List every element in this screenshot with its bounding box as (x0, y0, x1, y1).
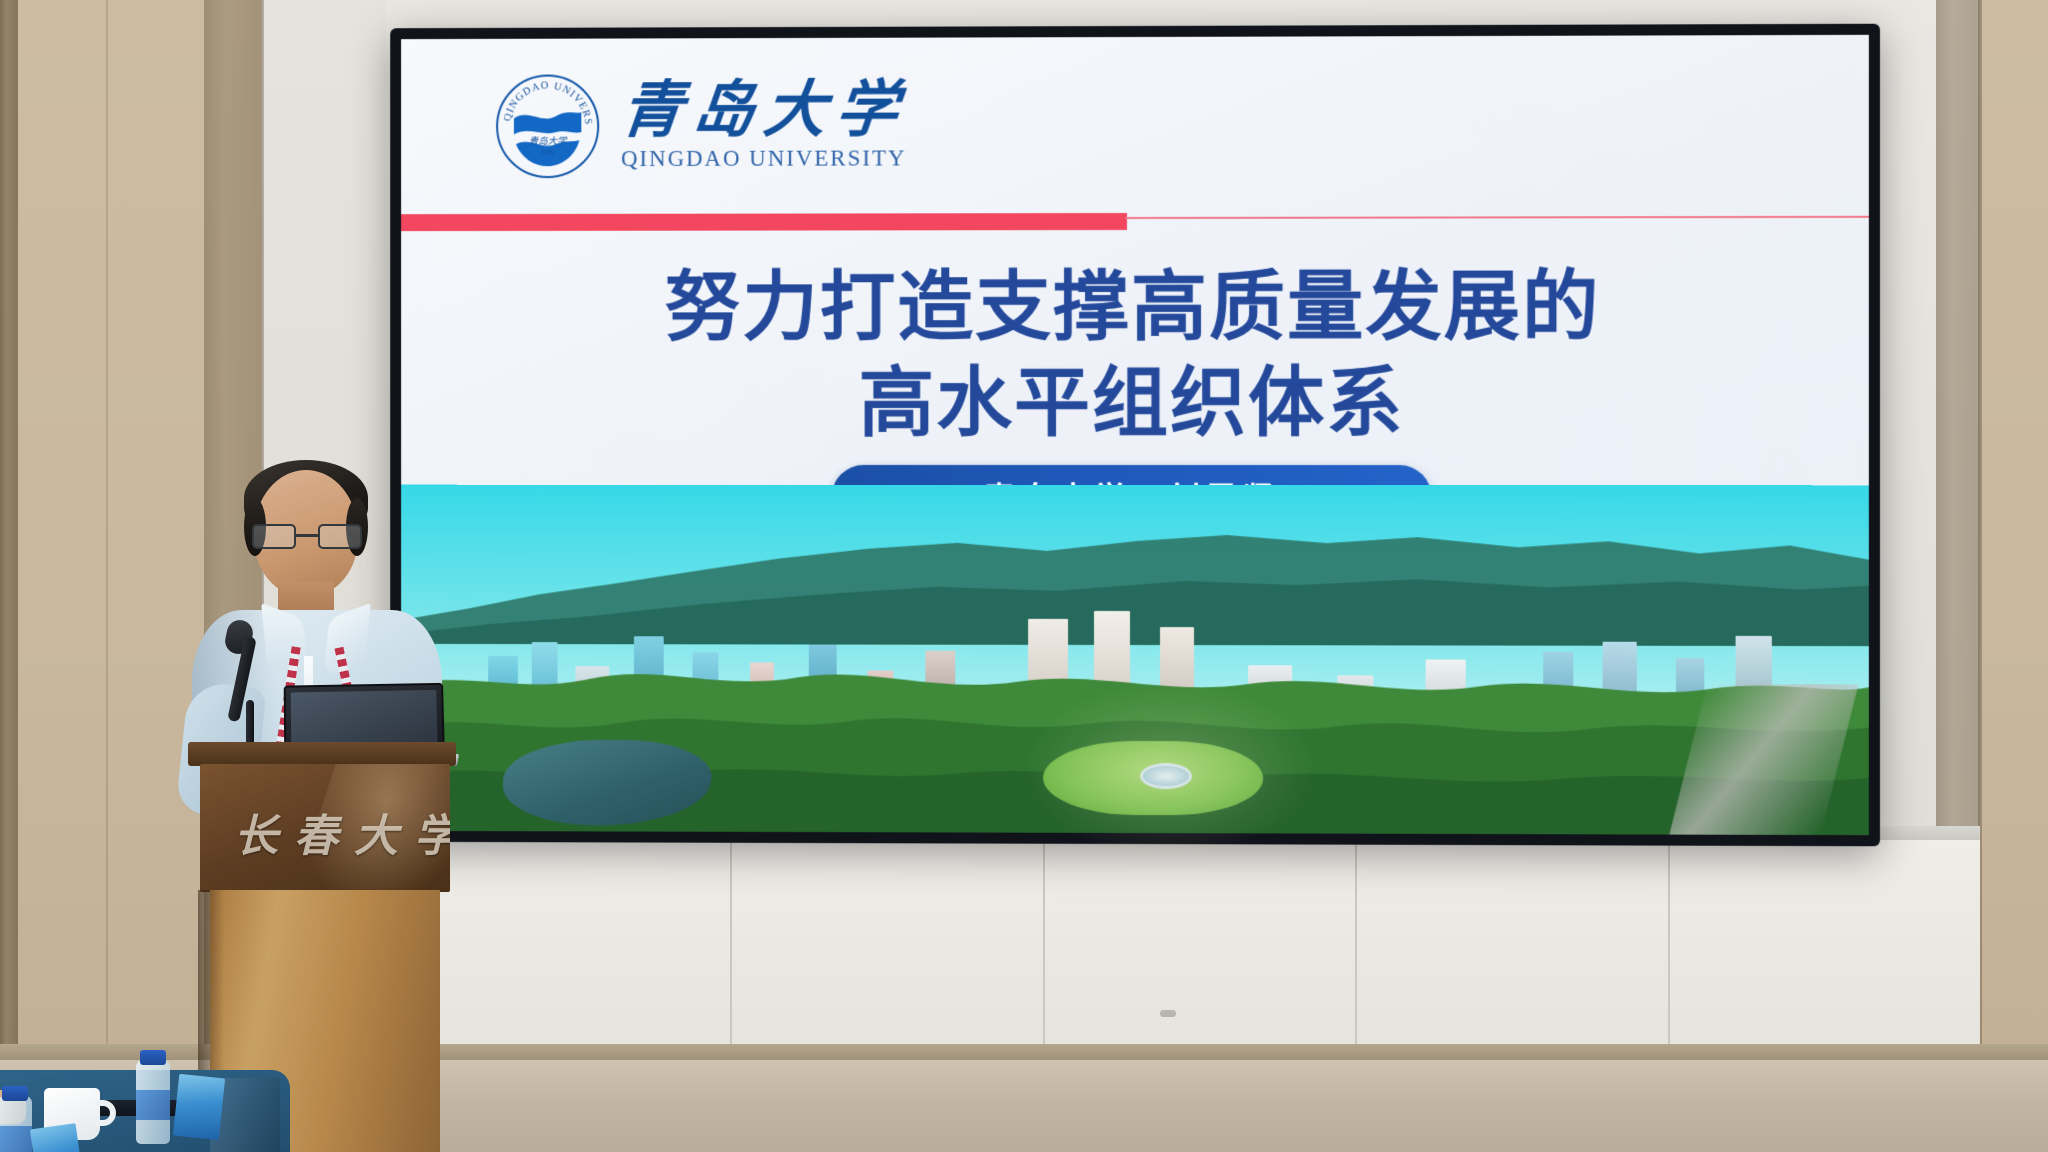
bottle-label (0, 1126, 32, 1152)
cabinet-row (420, 840, 1980, 1055)
accent-red-hairline (1125, 216, 1869, 219)
glasses-bridge (296, 534, 318, 537)
glasses-lens-left (252, 524, 296, 549)
title-line-1: 努力打造支撑高质量发展的 (401, 258, 1869, 355)
wall-column-left (0, 0, 18, 1060)
wordmark-english: QINGDAO UNIVERSITY (621, 145, 907, 172)
wall-seam-3 (106, 0, 108, 1044)
cabinet-door[interactable] (1045, 840, 1357, 1055)
led-display-screen: QINGDAO UNIVERSITY 青岛大学 1909 青岛大学 QINGDA… (390, 24, 1880, 847)
slide-title: 努力打造支撑高质量发展的 高水平组织体系 (401, 258, 1869, 451)
svg-text:1909: 1909 (541, 150, 555, 156)
presentation-scene: QINGDAO UNIVERSITY 青岛大学 1909 青岛大学 QINGDA… (0, 0, 2048, 1152)
name-tent-card[interactable] (173, 1074, 225, 1140)
glasses-icon (252, 524, 362, 550)
svg-text:青岛大学: 青岛大学 (529, 135, 568, 147)
bottle-cap[interactable] (140, 1050, 166, 1065)
bottle-label (136, 1090, 170, 1120)
name-tent-card[interactable] (30, 1123, 84, 1152)
wordmark-chinese: 青岛大学 (618, 80, 911, 143)
presentation-slide: QINGDAO UNIVERSITY 青岛大学 1909 青岛大学 QINGDA… (401, 35, 1869, 835)
cabinet-door[interactable] (732, 840, 1044, 1055)
cabinet-knob[interactable] (1160, 1010, 1176, 1017)
bottle-cap[interactable] (2, 1086, 28, 1101)
podium-top-surface (188, 742, 456, 766)
cabinet-door[interactable] (1357, 840, 1669, 1055)
front-table (0, 1038, 290, 1152)
podium-engraved-text: 长春大学 (234, 800, 450, 864)
photo-fountain (1140, 763, 1192, 789)
title-line-2: 高水平组织体系 (401, 354, 1869, 450)
university-wordmark: 青岛大学 QINGDAO UNIVERSITY (621, 80, 907, 172)
cabinet-door[interactable] (420, 840, 732, 1055)
campus-aerial-photo (401, 485, 1869, 835)
university-crest-icon: QINGDAO UNIVERSITY 青岛大学 1909 (496, 74, 599, 178)
glasses-lens-right (318, 524, 362, 549)
university-logo-row: QINGDAO UNIVERSITY 青岛大学 1909 青岛大学 QINGDA… (496, 74, 907, 179)
cabinet-door[interactable] (1670, 840, 1980, 1055)
accent-red-bar (401, 213, 1127, 231)
podium-front-panel: 长春大学 (200, 764, 450, 892)
